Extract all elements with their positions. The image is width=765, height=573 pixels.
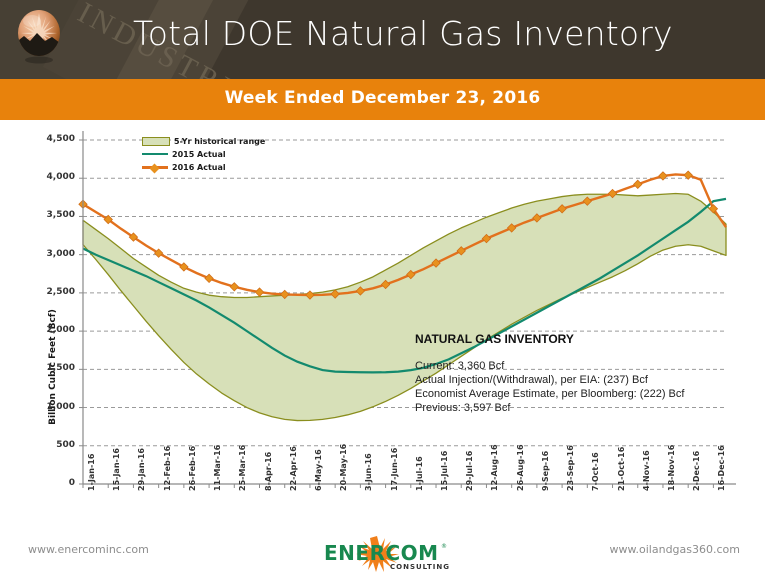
y-tick-label: 3,000 — [29, 249, 75, 259]
x-tick-label: 17-Jun-16 — [390, 448, 399, 491]
legend-label-2016: 2016 Actual — [172, 163, 226, 172]
y-tick-label: 1,000 — [29, 402, 75, 412]
y-tick-label: 1,500 — [29, 363, 75, 373]
x-tick-label: 29-Jan-16 — [137, 448, 146, 491]
x-tick-label: 29-Jul-16 — [465, 451, 474, 491]
legend-swatch-2015-icon — [142, 153, 168, 155]
x-tick-label: 25-Mar-16 — [238, 445, 247, 491]
x-tick-label: 6-May-16 — [314, 449, 323, 491]
chart-legend: 5-Yr historical range 2015 Actual 2016 A… — [142, 135, 265, 174]
x-tick-label: 12-Feb-16 — [163, 446, 172, 491]
x-tick-label: 21-Oct-16 — [617, 447, 626, 491]
x-tick-label: 20-May-16 — [339, 444, 348, 491]
data-point-marker — [230, 283, 238, 291]
annotation-line: Economist Average Estimate, per Bloomber… — [415, 387, 684, 401]
annotation-line: Actual Injection/(Withdrawal), per EIA: … — [415, 373, 684, 387]
x-tick-label: 2-Dec-16 — [692, 451, 701, 491]
legend-label-2015: 2015 Actual — [172, 150, 226, 159]
x-tick-label: 11-Mar-16 — [213, 445, 222, 491]
x-tick-label: 23-Sep-16 — [566, 445, 575, 491]
logo-subtext: CONSULTING — [390, 563, 450, 571]
footer-link-enercominc[interactable]: www.enercominc.com — [28, 543, 149, 556]
x-tick-label: 8-Apr-16 — [264, 452, 273, 491]
footer-link-oilandgas360[interactable]: www.oilandgas360.com — [610, 543, 740, 556]
legend-swatch-band-icon — [142, 137, 170, 146]
enercom-sphere-starburst-icon — [16, 10, 62, 66]
x-tick-label: 22-Apr-16 — [289, 446, 298, 491]
y-tick-label: 4,500 — [29, 134, 75, 144]
y-tick-label: 500 — [29, 440, 75, 450]
legend-item-band: 5-Yr historical range — [142, 135, 265, 147]
x-tick-label: 15-Jul-16 — [440, 451, 449, 491]
annotation-line: Current: 3,360 Bcf — [415, 359, 684, 373]
annotation-lines: Current: 3,360 BcfActual Injection/(With… — [415, 359, 684, 415]
logo-registered-mark: ® — [441, 543, 447, 550]
x-tick-label: 1-Jan-16 — [87, 454, 96, 491]
x-tick-label: 26-Feb-16 — [188, 446, 197, 491]
week-ended-label: Week Ended December 23, 2016 — [0, 88, 765, 108]
chart-container: Billion Cubic Feet (Bcf) 05001,0001,5002… — [10, 127, 755, 530]
legend-swatch-2016-icon — [142, 166, 168, 169]
page-header: E INDUSTRI Total DOE Natural Gas Invento… — [0, 0, 765, 79]
x-tick-label: 1-Jul-16 — [415, 456, 424, 491]
inventory-annotation-box: NATURAL GAS INVENTORY Current: 3,360 Bcf… — [415, 332, 684, 415]
legend-label-band: 5-Yr historical range — [174, 137, 265, 146]
legend-item-2016: 2016 Actual — [142, 161, 265, 173]
y-tick-label: 4,000 — [29, 172, 75, 182]
y-tick-label: 2,000 — [29, 325, 75, 335]
x-tick-label: 18-Nov-16 — [667, 445, 676, 491]
data-point-marker — [659, 172, 667, 180]
x-tick-label: 26-Aug-16 — [516, 444, 525, 491]
data-point-marker — [634, 180, 642, 188]
enercom-consulting-logo: ENERCOM ® CONSULTING — [322, 536, 450, 572]
x-tick-label: 12-Aug-16 — [490, 444, 499, 491]
y-tick-label: 2,500 — [29, 287, 75, 297]
y-tick-label: 3,500 — [29, 210, 75, 220]
y-tick-label: 0 — [29, 478, 75, 488]
x-tick-label: 7-Oct-16 — [591, 452, 600, 491]
legend-item-2015: 2015 Actual — [142, 148, 265, 160]
x-tick-label: 9-Sep-16 — [541, 451, 550, 491]
annotation-line: Previous: 3,597 Bcf — [415, 401, 684, 415]
x-tick-label: 16-Dec-16 — [717, 445, 726, 491]
logo-wordmark: ENERCOM — [324, 541, 439, 565]
x-tick-label: 15-Jan-16 — [112, 448, 121, 491]
page-title: Total DOE Natural Gas Inventory — [133, 14, 673, 53]
x-tick-label: 3-Jun-16 — [364, 453, 373, 491]
data-point-marker — [255, 288, 263, 296]
x-tick-label: 4-Nov-16 — [642, 450, 651, 491]
data-point-marker — [205, 274, 213, 282]
subheader-bar: Week Ended December 23, 2016 — [0, 79, 765, 120]
annotation-title: NATURAL GAS INVENTORY — [415, 332, 684, 346]
